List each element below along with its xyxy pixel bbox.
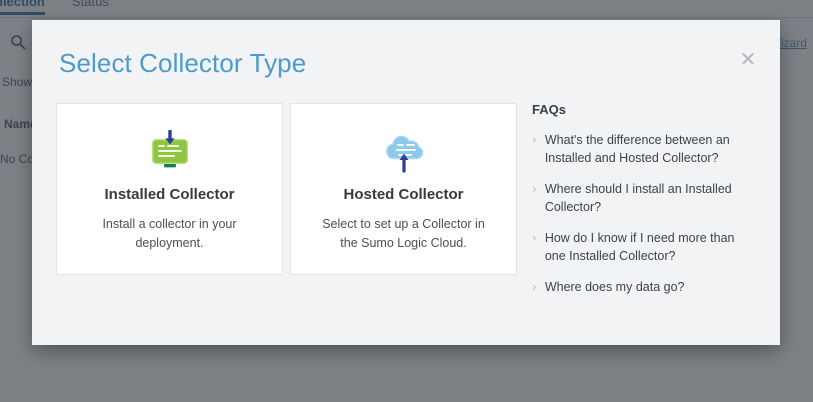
faq-item-label[interactable]: Where should I install an Installed Coll… <box>545 181 757 216</box>
chevron-right-icon: › <box>532 230 537 265</box>
faq-item-label[interactable]: Where does my data go? <box>545 279 685 297</box>
faq-item-label[interactable]: How do I know if I need more than one In… <box>545 230 757 265</box>
faq-item-data-destination[interactable]: › Where does my data go? <box>532 279 757 297</box>
select-collector-type-dialog: ✕ Select Collector Type Installed Collec… <box>32 20 780 345</box>
close-icon[interactable]: ✕ <box>738 50 758 70</box>
dialog-title: Select Collector Type <box>59 48 306 79</box>
faq-heading: FAQs <box>532 102 757 117</box>
hosted-collector-description: Select to set up a Collector in the Sumo… <box>316 215 491 253</box>
faq-item-where-install[interactable]: › Where should I install an Installed Co… <box>532 181 757 216</box>
faq-section: FAQs › What's the difference between an … <box>532 102 757 311</box>
faq-item-label[interactable]: What's the difference between an Install… <box>545 132 757 167</box>
collector-type-card-row: Installed Collector Install a collector … <box>56 103 517 275</box>
installed-collector-title: Installed Collector <box>104 186 234 203</box>
chevron-right-icon: › <box>532 279 537 297</box>
faq-item-difference[interactable]: › What's the difference between an Insta… <box>532 132 757 167</box>
hosted-collector-card[interactable]: Hosted Collector Select to set up a Coll… <box>290 103 517 275</box>
chevron-right-icon: › <box>532 181 537 216</box>
faq-item-how-many[interactable]: › How do I know if I need more than one … <box>532 230 757 265</box>
installed-collector-description: Install a collector in your deployment. <box>82 215 257 253</box>
installed-collector-monitor-icon <box>143 130 197 174</box>
installed-collector-card[interactable]: Installed Collector Install a collector … <box>56 103 283 275</box>
hosted-collector-title: Hosted Collector <box>343 186 463 203</box>
hosted-collector-cloud-icon <box>377 130 431 174</box>
chevron-right-icon: › <box>532 132 537 167</box>
